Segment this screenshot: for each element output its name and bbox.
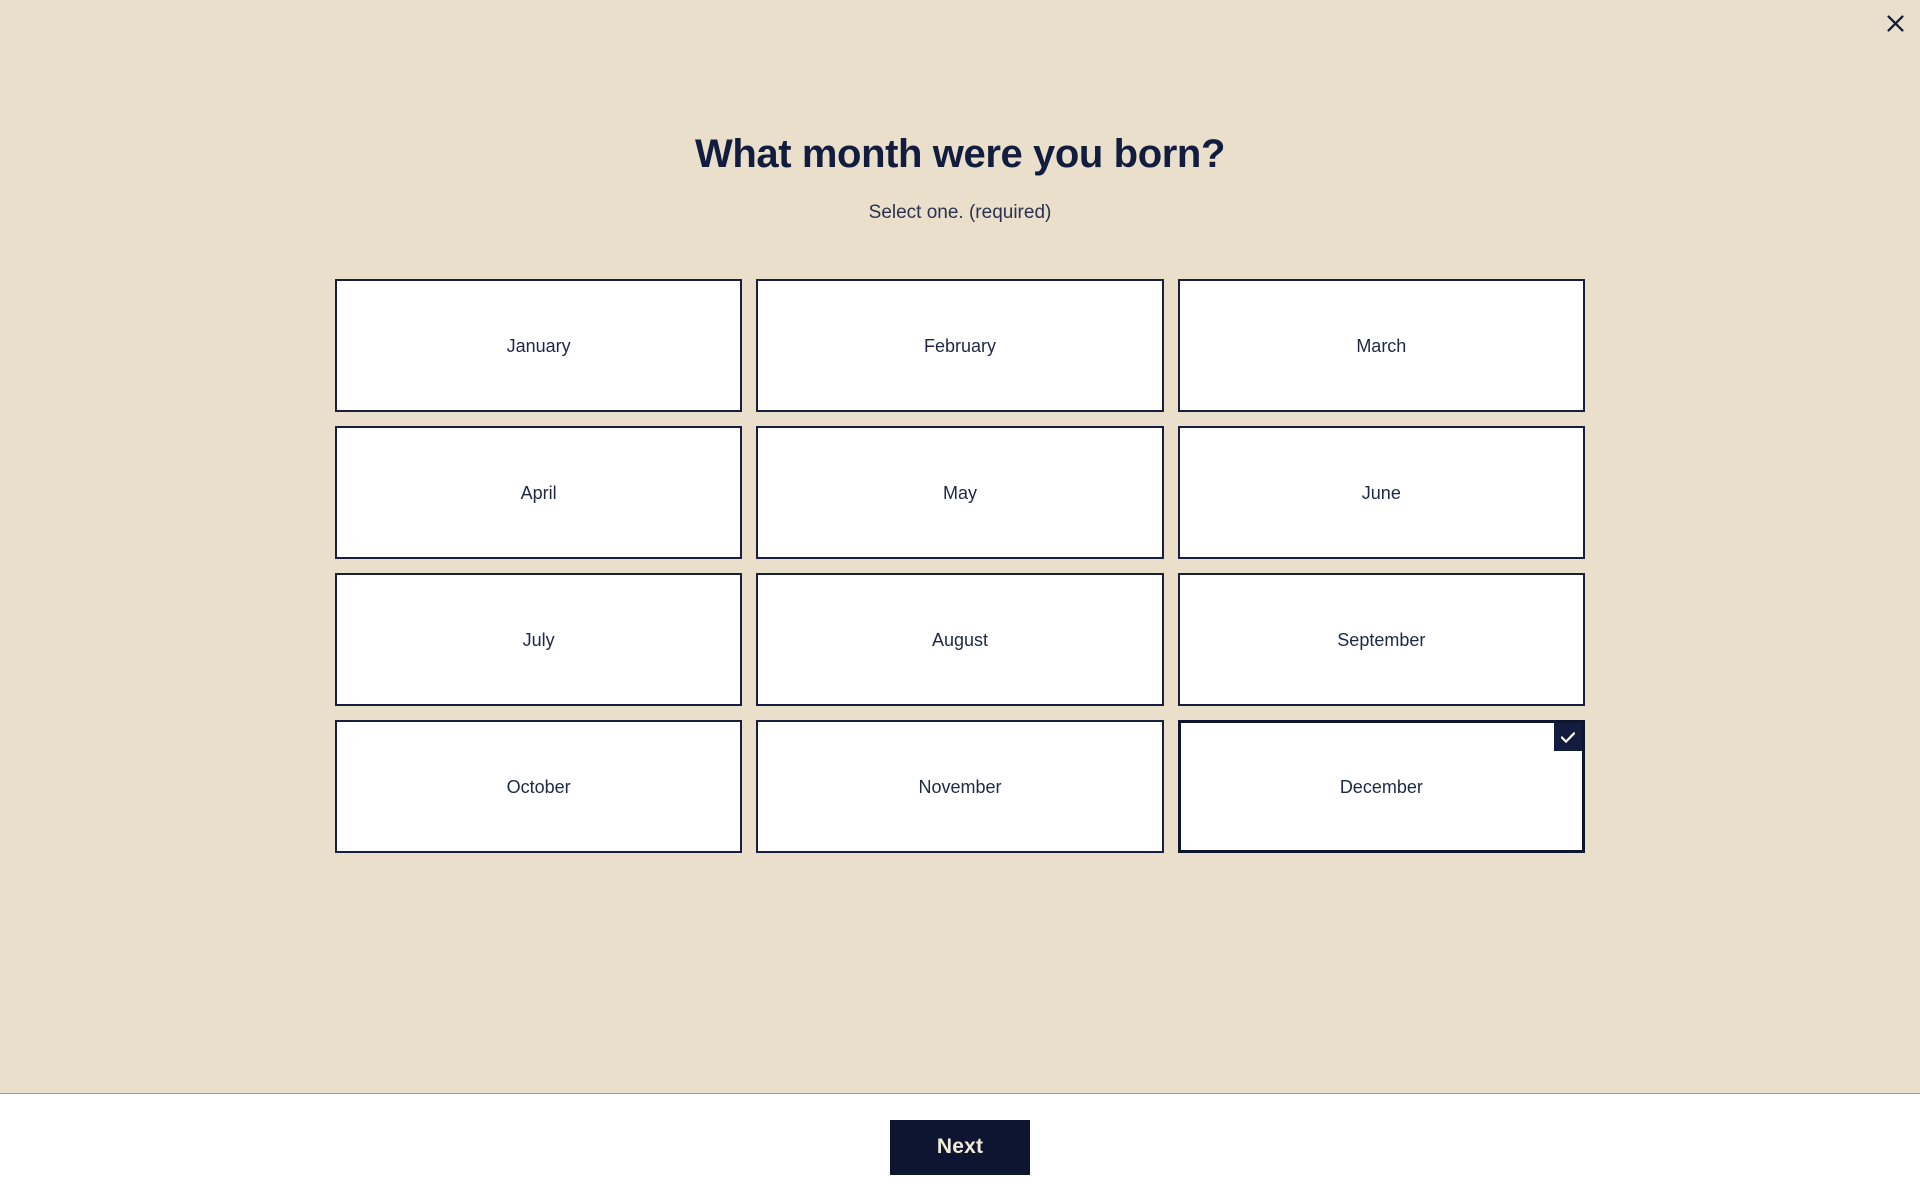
question-inner: What month were you born? Select one. (r…: [160, 0, 1760, 853]
option-april[interactable]: April: [335, 426, 742, 559]
option-june[interactable]: June: [1178, 426, 1585, 559]
option-july[interactable]: July: [335, 573, 742, 706]
option-label: August: [932, 628, 988, 652]
option-label: March: [1356, 334, 1406, 358]
option-label: January: [507, 334, 571, 358]
survey-page: What month were you born? Select one. (r…: [0, 0, 1920, 1200]
option-label: September: [1337, 628, 1425, 652]
page-title: What month were you born?: [160, 130, 1760, 178]
option-october[interactable]: October: [335, 720, 742, 853]
option-february[interactable]: February: [756, 279, 1163, 412]
option-label: October: [507, 775, 571, 799]
option-august[interactable]: August: [756, 573, 1163, 706]
footer-bar: Next: [0, 1093, 1920, 1200]
month-options-grid: January February: [335, 279, 1585, 853]
option-label: December: [1340, 775, 1423, 799]
option-label: February: [924, 334, 996, 358]
option-label: November: [918, 775, 1001, 799]
option-label: June: [1362, 481, 1401, 505]
question-instruction: Select one. (required): [160, 200, 1760, 226]
option-september[interactable]: September: [1178, 573, 1585, 706]
option-march[interactable]: March: [1178, 279, 1585, 412]
option-may[interactable]: May: [756, 426, 1163, 559]
option-november[interactable]: November: [756, 720, 1163, 853]
close-button[interactable]: [1878, 6, 1912, 40]
option-december[interactable]: December: [1178, 720, 1585, 853]
check-icon: [1554, 723, 1582, 751]
option-january[interactable]: January: [335, 279, 742, 412]
question-area: What month were you born? Select one. (r…: [0, 0, 1920, 1093]
next-button[interactable]: Next: [890, 1120, 1030, 1175]
option-label: July: [523, 628, 555, 652]
option-label: May: [943, 481, 977, 505]
close-icon: [1887, 15, 1904, 32]
option-label: April: [521, 481, 557, 505]
